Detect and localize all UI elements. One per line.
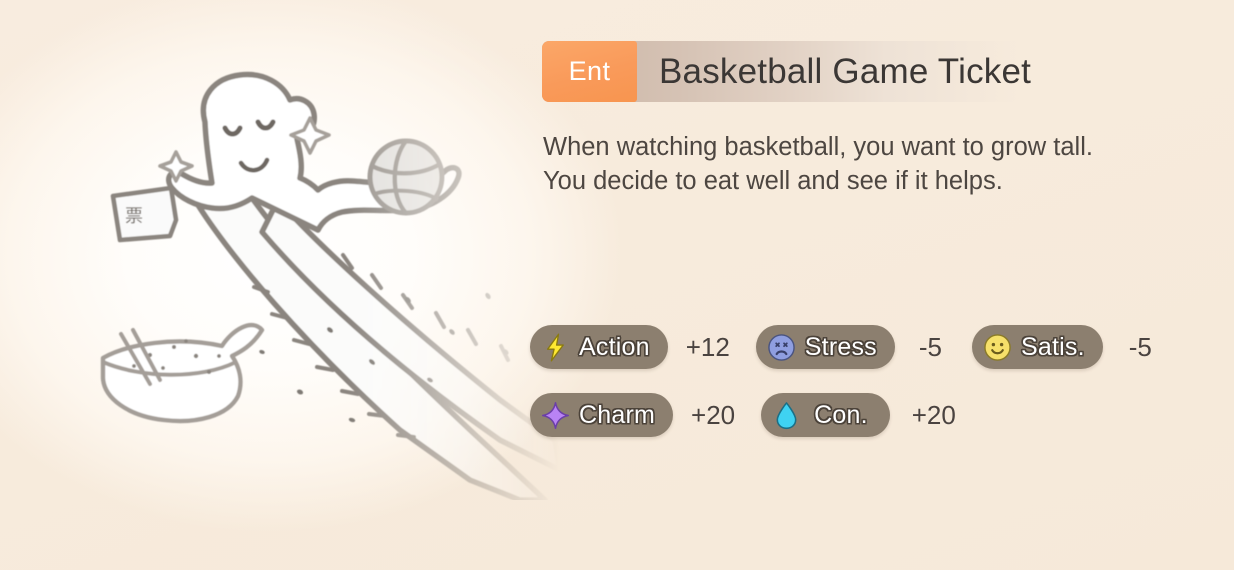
- lightning-bolt-icon: [541, 333, 570, 362]
- character-legs: [198, 198, 560, 500]
- description-line-2: You decide to eat well and see if it hel…: [543, 164, 1223, 198]
- stat-value: +20: [691, 400, 735, 431]
- stat-label: Charm: [579, 401, 655, 430]
- stat-label: Action: [579, 333, 650, 362]
- illustration-area: 票: [0, 0, 560, 500]
- stat-value: -5: [919, 332, 942, 363]
- sparkle-star-icon: [541, 401, 570, 430]
- category-badge: Ent: [542, 41, 637, 102]
- stat-group-satisfaction: Satis. -5: [972, 325, 1152, 369]
- stat-label: Satis.: [1021, 333, 1085, 362]
- card-header: Ent Basketball Game Ticket: [542, 41, 1232, 102]
- stat-pill-action: Action: [530, 325, 668, 369]
- stat-pill-condition: Con.: [761, 393, 890, 437]
- stat-row: Charm +20 Con. +20: [530, 391, 1230, 439]
- event-card: 票: [0, 0, 1234, 570]
- stat-group-condition: Con. +20: [761, 393, 956, 437]
- stat-value: +20: [912, 400, 956, 431]
- frowning-face-icon: [767, 333, 796, 362]
- stat-pill-stress: Stress: [756, 325, 895, 369]
- description-line-1: When watching basketball, you want to gr…: [543, 130, 1223, 164]
- basketball-icon: [370, 141, 442, 213]
- svg-text:票: 票: [125, 206, 143, 227]
- smiling-face-icon: [983, 333, 1012, 362]
- stat-group-action: Action +12: [530, 325, 730, 369]
- card-title: Basketball Game Ticket: [637, 41, 1031, 102]
- water-drop-icon: [772, 401, 801, 430]
- card-description: When watching basketball, you want to gr…: [543, 130, 1223, 198]
- stat-group-stress: Stress -5: [756, 325, 942, 369]
- stat-label: Con.: [814, 401, 868, 430]
- stat-row: Action +12 Stress -5: [530, 323, 1230, 371]
- stat-value: +12: [686, 332, 730, 363]
- stat-pill-charm: Charm: [530, 393, 673, 437]
- stat-pill-satisfaction: Satis.: [972, 325, 1103, 369]
- ticket-icon: 票: [113, 188, 176, 240]
- rice-bowl-icon: [103, 325, 262, 421]
- stat-group-charm: Charm +20: [530, 393, 735, 437]
- stat-value: -5: [1129, 332, 1152, 363]
- stat-effects: Action +12 Stress -5: [530, 323, 1230, 459]
- stat-label: Stress: [805, 333, 877, 362]
